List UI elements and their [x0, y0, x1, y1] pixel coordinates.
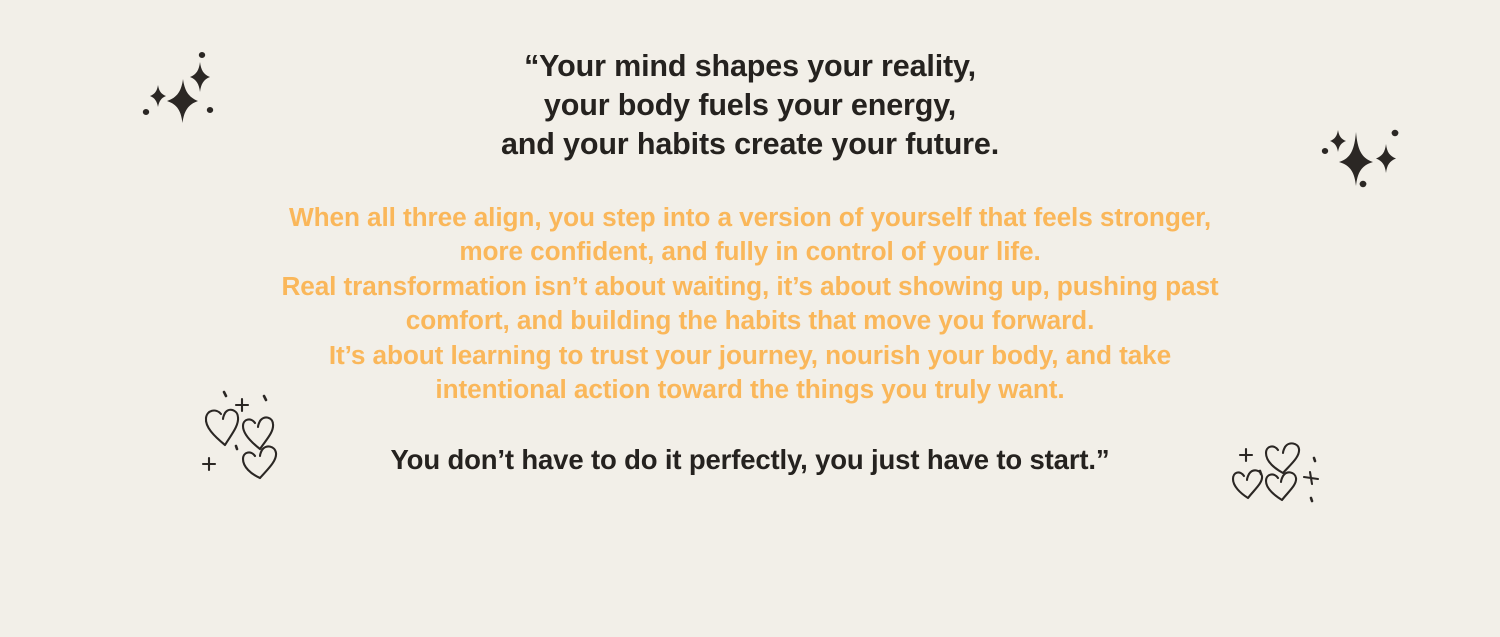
quote-opening-line-3: and your habits create your future.: [0, 125, 1500, 164]
quote-body-line-4: comfort, and building the habits that mo…: [0, 303, 1500, 337]
sparkle-cluster-icon: [138, 52, 230, 126]
heart-cluster-icon: [1232, 440, 1330, 504]
quote-body-line-2: more confident, and fully in control of …: [0, 234, 1500, 268]
quote-body-line-1: When all three align, you step into a ve…: [0, 200, 1500, 234]
heart-cluster-icon: [198, 386, 294, 478]
quote-body-line-3: Real transformation isn’t about waiting,…: [0, 269, 1500, 303]
poster-canvas: “Your mind shapes your reality, your bod…: [0, 0, 1500, 637]
quote-body-block: When all three align, you step into a ve…: [0, 200, 1500, 406]
sparkle-cluster-icon: [1322, 118, 1410, 188]
quote-body-line-5: It’s about learning to trust your journe…: [0, 338, 1500, 372]
